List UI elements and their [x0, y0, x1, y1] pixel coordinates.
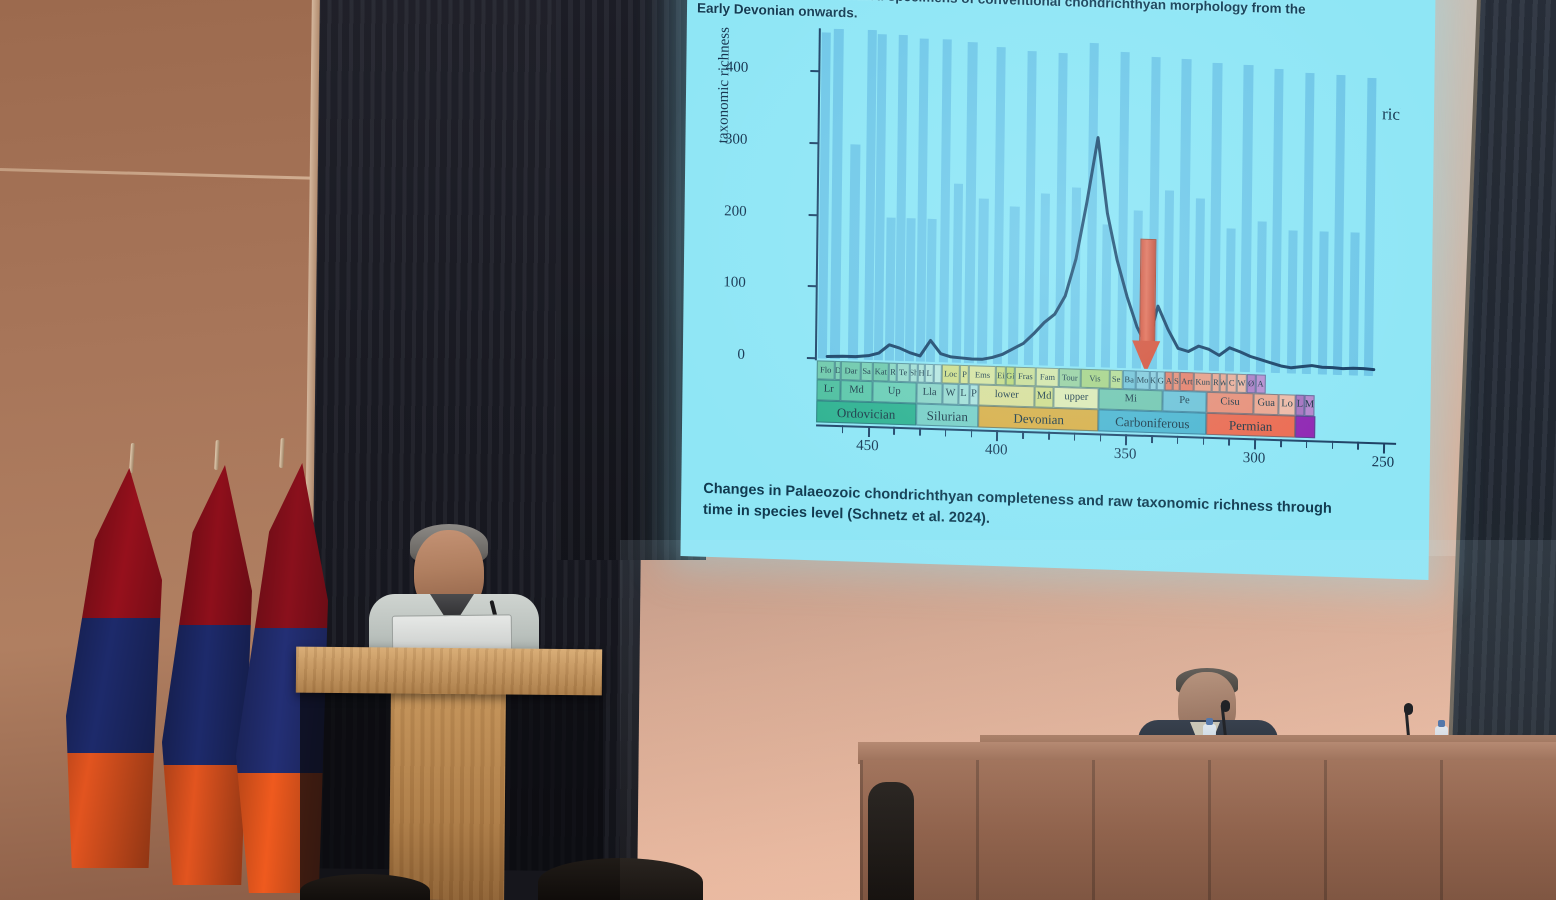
y-tick-label: 100	[692, 274, 746, 293]
x-tick-minor	[1280, 439, 1282, 447]
y-tick-label: 300	[693, 130, 747, 149]
y-tick	[808, 285, 817, 287]
x-tick-major	[1254, 438, 1256, 449]
timescale-cell: Carboniferous	[1099, 409, 1207, 434]
timescale-cell: Gi	[1006, 366, 1015, 385]
timescale-cell: Lo	[1279, 394, 1296, 416]
y-tick-label: 400	[694, 58, 748, 77]
podium-shadow-left	[300, 690, 392, 900]
x-tick-minor	[1306, 440, 1308, 448]
timescale-cell: L	[958, 384, 969, 405]
head-table-front-panel	[860, 760, 1556, 900]
timescale-cell: W	[943, 383, 958, 404]
x-tick-minor	[1022, 431, 1024, 439]
audience-head-2	[300, 874, 430, 900]
x-tick-minor	[945, 428, 947, 436]
timescale-cell: Sh	[909, 363, 918, 382]
y-tick	[809, 142, 818, 144]
timescale-cell: Fras	[1015, 367, 1036, 387]
timescale-cell: Ei	[996, 366, 1006, 385]
x-tick-minor	[971, 429, 973, 437]
timescale-cell: Ordovician	[816, 400, 916, 425]
timescale-cell: Md	[1034, 386, 1053, 408]
timescale-cell: Mi	[1099, 388, 1163, 411]
timescale-cell: lower	[979, 385, 1035, 408]
timescale-cell: Ba	[1123, 370, 1136, 389]
timescale-cell: Lr	[816, 379, 841, 401]
timescale-cell: P	[969, 384, 979, 405]
slide-caption-line-2: time in species level (Schnetz et al. 20…	[703, 501, 990, 526]
podium-desktop	[296, 647, 602, 696]
x-tick-minor	[1203, 437, 1205, 445]
timescale-cell: Cisu	[1206, 392, 1254, 415]
x-tick-minor	[1228, 438, 1230, 446]
timescale-cell: Up	[872, 381, 916, 403]
x-tick-label: 250	[1372, 454, 1395, 472]
x-tick-minor	[1074, 433, 1076, 441]
x-tick-major	[996, 430, 998, 441]
x-tick-minor	[842, 425, 844, 433]
table-microphone-1-head	[1221, 700, 1230, 712]
x-tick-label: 300	[1243, 450, 1266, 468]
timescale-cell: Kat	[872, 362, 889, 382]
timescale-cell: L	[1295, 395, 1304, 416]
timescale-cell: Pe	[1163, 390, 1207, 412]
y-tick	[807, 357, 816, 359]
x-tick-minor	[1177, 436, 1179, 444]
y-tick	[810, 70, 819, 72]
x-tick-label: 450	[856, 438, 879, 456]
presentation-slide: am. Middle Ordovician (470.0–467.3 Ma) -…	[680, 0, 1435, 580]
timescale-cell: upper	[1054, 387, 1099, 409]
red-arrow-annotation	[1135, 238, 1159, 374]
timescale-cell: Flo	[817, 360, 835, 380]
x-tick-minor	[1048, 432, 1050, 440]
x-tick-minor	[1357, 442, 1359, 450]
slide-heading-line-2: Early Devonian onwards.	[697, 0, 858, 20]
table-microphone-2-head	[1404, 703, 1413, 715]
timescale-cell: G	[1156, 371, 1165, 390]
richness-line-series	[817, 28, 1401, 377]
timescale-cell: Silurian	[916, 404, 979, 428]
audience-head-1	[538, 858, 703, 900]
timescale-cell: Lla	[916, 383, 943, 405]
timescale-cell	[1295, 416, 1315, 439]
timescale-cell: P	[960, 365, 969, 384]
timescale-cell: Ems	[969, 365, 996, 385]
timescale-cell: Fam	[1036, 367, 1059, 387]
y-tick-label: 0	[691, 345, 745, 364]
timescale-cell: Te	[897, 363, 910, 382]
timescale-cell: Dar	[841, 361, 861, 381]
x-tick-label: 400	[985, 442, 1008, 460]
timescale-cell: L	[925, 364, 933, 383]
timescale-cell: Mo	[1135, 371, 1149, 390]
x-tick-minor	[1100, 433, 1102, 441]
x-tick-label: 350	[1114, 446, 1137, 464]
timescale-cell: Tour	[1059, 368, 1081, 388]
timescale-cell: Loc	[941, 364, 960, 384]
timescale-cell: Kun	[1193, 372, 1212, 392]
timescale-cell: Gua	[1254, 393, 1279, 415]
projection-screen: am. Middle Ordovician (470.0–467.3 Ma) -…	[680, 0, 1435, 580]
timescale-cell: Md	[841, 380, 873, 402]
timescale-cell: Art	[1180, 372, 1194, 391]
y-axis-title: taxonomic richness	[715, 27, 733, 144]
podium-column	[389, 690, 506, 900]
timescale-cell: Sa	[861, 362, 873, 381]
timescale-cell: M	[1304, 395, 1315, 416]
x-tick-major	[868, 426, 870, 437]
y-tick	[809, 214, 818, 216]
plot-area: richness	[817, 28, 1401, 377]
timescale-cell: Ø	[1247, 374, 1256, 393]
timescale-cell: Se	[1109, 370, 1123, 389]
timescale-cell: Devonian	[978, 406, 1098, 432]
x-tick-minor	[1151, 435, 1153, 443]
timescale-cell	[933, 364, 941, 383]
x-tick-minor	[893, 427, 895, 435]
timescale-cell: A	[1255, 374, 1265, 393]
x-tick-major	[1125, 434, 1127, 445]
richness-chart: taxonomic richness richness 010020030040…	[717, 25, 1412, 495]
timescale-cell: C	[1227, 373, 1236, 392]
y-tick-label: 200	[693, 202, 747, 221]
x-tick-major	[1383, 442, 1385, 453]
timescale-cell: W	[1236, 374, 1247, 393]
screenshot-root: am. Middle Ordovician (470.0–467.3 Ma) -…	[0, 0, 1556, 900]
series-label-richness: richness	[1382, 104, 1401, 126]
x-tick-minor	[1332, 441, 1334, 449]
timescale-cell: Permian	[1206, 413, 1296, 438]
x-tick-minor	[919, 428, 921, 436]
audience-head-3	[868, 782, 914, 900]
timescale-cell: Vis	[1080, 369, 1109, 389]
